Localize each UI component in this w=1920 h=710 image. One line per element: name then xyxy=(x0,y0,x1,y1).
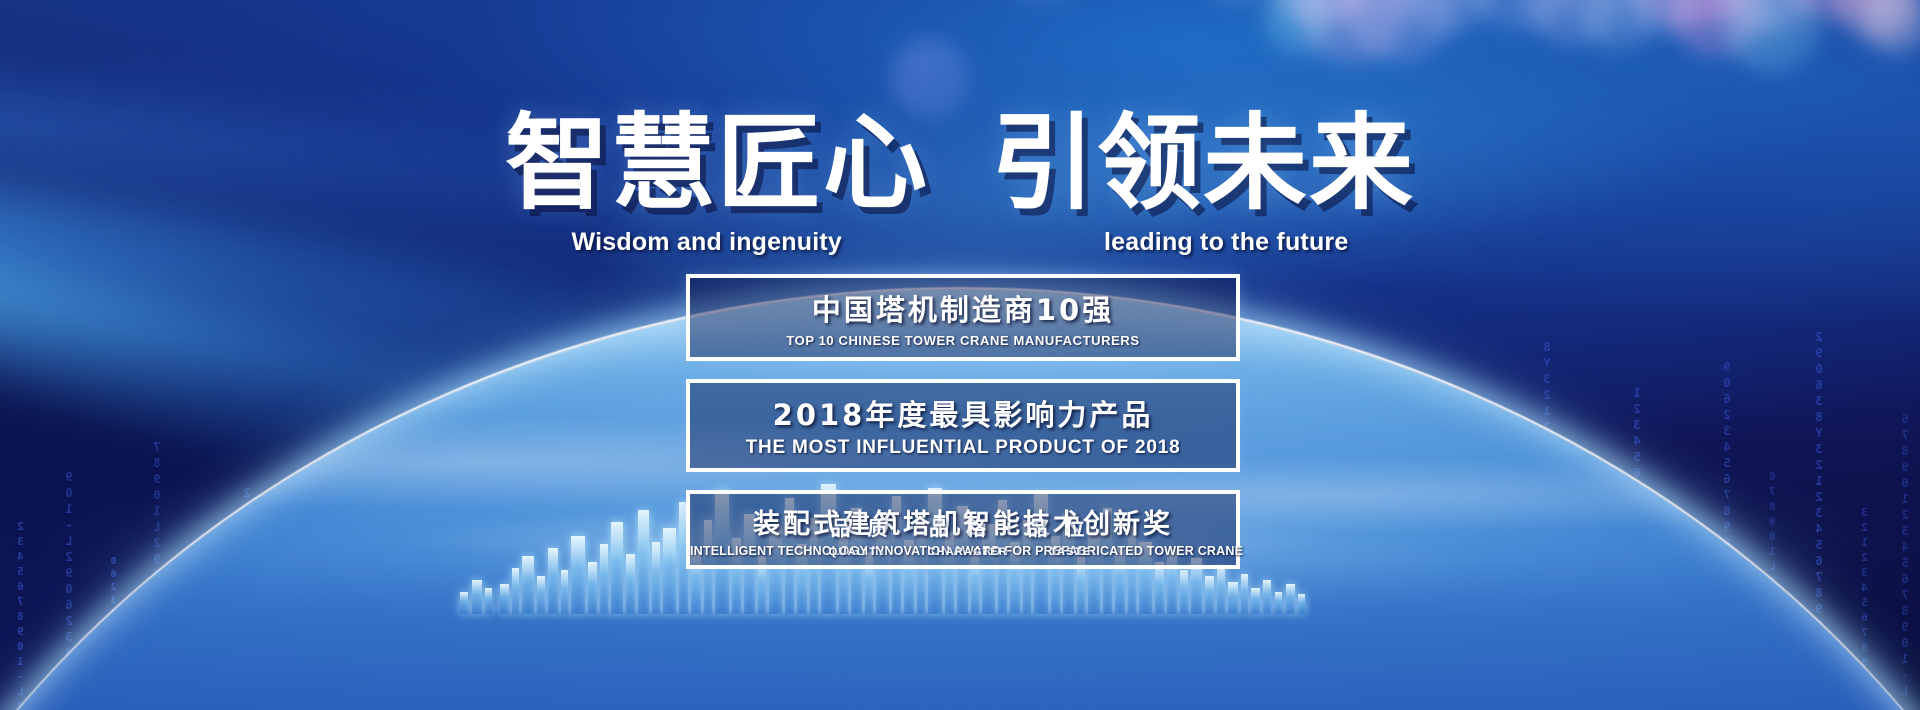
tagline-en: QUALITY CHARACTER TASTE xyxy=(0,546,1920,558)
tagline-en-quality: QUALITY xyxy=(829,546,886,558)
tagline-cn: 品 质 · 品 格 · 品 位 xyxy=(0,512,1920,541)
award-item-influential-product: 2018年度最具影响力产品 THE MOST INFLUENTIAL PRODU… xyxy=(686,379,1240,472)
promotional-banner: 2345678901-L2901-L2906234567062345678901… xyxy=(0,0,1920,710)
headline-right-cn: 引领未来 xyxy=(991,102,1415,224)
banner-content: 智慧匠心引领未来 Wisdom and ingenuity leading to… xyxy=(0,0,1920,710)
award-title-en: THE MOST INFLUENTIAL PRODUCT OF 2018 xyxy=(690,437,1236,459)
subtitle-left-en: Wisdom and ingenuity xyxy=(572,228,842,257)
bottom-tagline: 品 质 · 品 格 · 品 位 QUALITY CHARACTER TASTE xyxy=(0,512,1920,558)
award-item-top10: 中国塔机制造商10强 TOP 10 CHINESE TOWER CRANE MA… xyxy=(686,274,1240,361)
headline: 智慧匠心引领未来 xyxy=(0,108,1920,218)
award-title-cn: 2018年度最具影响力产品 xyxy=(690,392,1236,434)
tagline-en-character: CHARACTER xyxy=(927,546,1007,558)
headline-subtitles: Wisdom and ingenuity leading to the futu… xyxy=(0,228,1920,257)
award-title-cn: 中国塔机制造商10强 xyxy=(690,287,1236,329)
award-title-en: TOP 10 CHINESE TOWER CRANE MANUFACTURERS xyxy=(690,333,1236,348)
tagline-en-taste: TASTE xyxy=(1050,546,1091,558)
subtitle-right-en: leading to the future xyxy=(1104,228,1348,257)
headline-left-cn: 智慧匠心 xyxy=(505,102,929,224)
